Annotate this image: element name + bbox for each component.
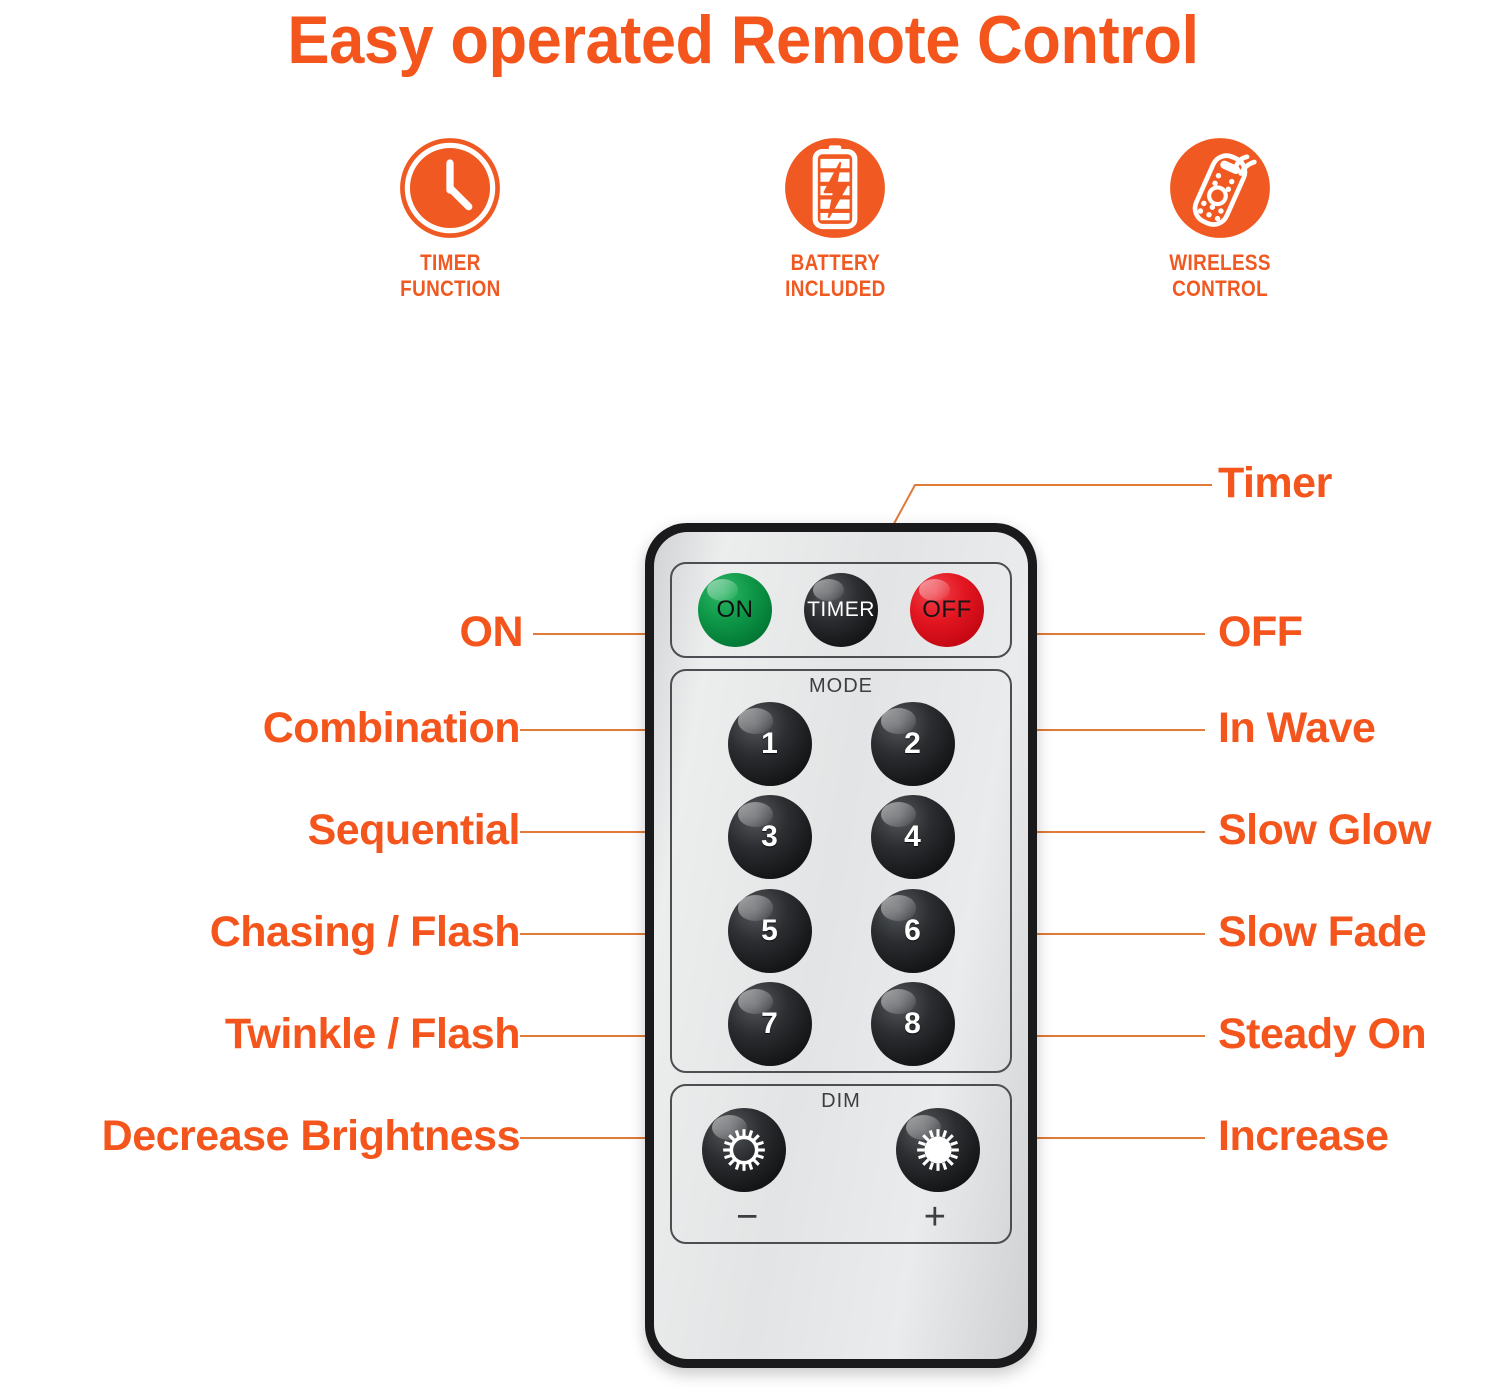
mode-button-2[interactable]: 2 (871, 702, 955, 786)
remote-faceplate: ON TIMER OFF MODE 1 2 3 4 5 6 7 8 DIM (654, 532, 1028, 1359)
callout-mode-7: Twinkle / Flash (225, 1010, 520, 1058)
page-title: Easy operated Remote Control (52, 2, 1434, 78)
feature-badge-row: TIMER FUNCTION BATTERY INCLUDED (300, 136, 1370, 302)
remote-control-device: ON TIMER OFF MODE 1 2 3 4 5 6 7 8 DIM (645, 523, 1037, 1368)
remote-signal-icon (1168, 136, 1272, 240)
dim-button-panel: DIM (670, 1084, 1012, 1244)
mode-button-panel: MODE 1 2 3 4 5 6 7 8 (670, 669, 1012, 1073)
callout-on: ON (460, 608, 524, 656)
callout-off: OFF (1218, 608, 1302, 656)
mode-button-1[interactable]: 1 (728, 702, 812, 786)
callout-mode-4: Slow Glow (1218, 806, 1431, 854)
clock-icon (398, 136, 502, 240)
brightness-low-icon (715, 1121, 773, 1179)
power-button-panel: ON TIMER OFF (670, 562, 1012, 658)
mode-panel-label: MODE (672, 675, 1010, 698)
on-button[interactable]: ON (698, 573, 772, 647)
mode-button-5[interactable]: 5 (728, 889, 812, 973)
feature-wireless-control: WIRELESS CONTROL (1070, 136, 1370, 302)
feature-timer-function: TIMER FUNCTION (300, 136, 600, 302)
mode-button-3[interactable]: 3 (728, 795, 812, 879)
feature-battery-line2: INCLUDED (785, 276, 886, 302)
feature-timer-line1: TIMER (400, 250, 500, 276)
brightness-high-icon (909, 1121, 967, 1179)
callout-mode-3: Sequential (308, 806, 520, 854)
dim-sign-row: − + (698, 1192, 984, 1236)
callout-mode-8: Steady On (1218, 1010, 1426, 1058)
mode-button-6[interactable]: 6 (871, 889, 955, 973)
mode-button-4[interactable]: 4 (871, 795, 955, 879)
feature-battery-included: BATTERY INCLUDED (685, 136, 985, 302)
timer-button[interactable]: TIMER (804, 573, 878, 647)
callout-mode-5: Chasing / Flash (210, 908, 520, 956)
dim-button-row (698, 1108, 984, 1192)
callout-mode-1: Combination (263, 704, 520, 752)
dim-increase-button[interactable] (896, 1108, 980, 1192)
dim-panel-label: DIM (672, 1090, 1010, 1113)
callout-timer: Timer (1218, 459, 1332, 507)
off-button[interactable]: OFF (910, 573, 984, 647)
mode-button-7[interactable]: 7 (728, 982, 812, 1066)
callout-mode-6: Slow Fade (1218, 908, 1426, 956)
callout-dim-down: Decrease Brightness (102, 1112, 520, 1160)
dim-plus-sign: + (924, 1198, 946, 1236)
mode-button-grid: 1 2 3 4 5 6 7 8 (698, 697, 984, 1071)
feature-timer-line2: FUNCTION (400, 276, 500, 302)
callout-dim-up: Increase (1218, 1112, 1389, 1160)
feature-wireless-line1: WIRELESS (1169, 250, 1271, 276)
feature-battery-caption: BATTERY INCLUDED (785, 250, 886, 302)
battery-icon (783, 136, 887, 240)
callout-mode-2: In Wave (1218, 704, 1375, 752)
mode-button-8[interactable]: 8 (871, 982, 955, 1066)
feature-timer-caption: TIMER FUNCTION (400, 250, 500, 302)
feature-battery-line1: BATTERY (785, 250, 886, 276)
dim-minus-sign: − (736, 1198, 758, 1236)
dim-decrease-button[interactable] (702, 1108, 786, 1192)
feature-wireless-line2: CONTROL (1169, 276, 1271, 302)
feature-wireless-caption: WIRELESS CONTROL (1169, 250, 1271, 302)
